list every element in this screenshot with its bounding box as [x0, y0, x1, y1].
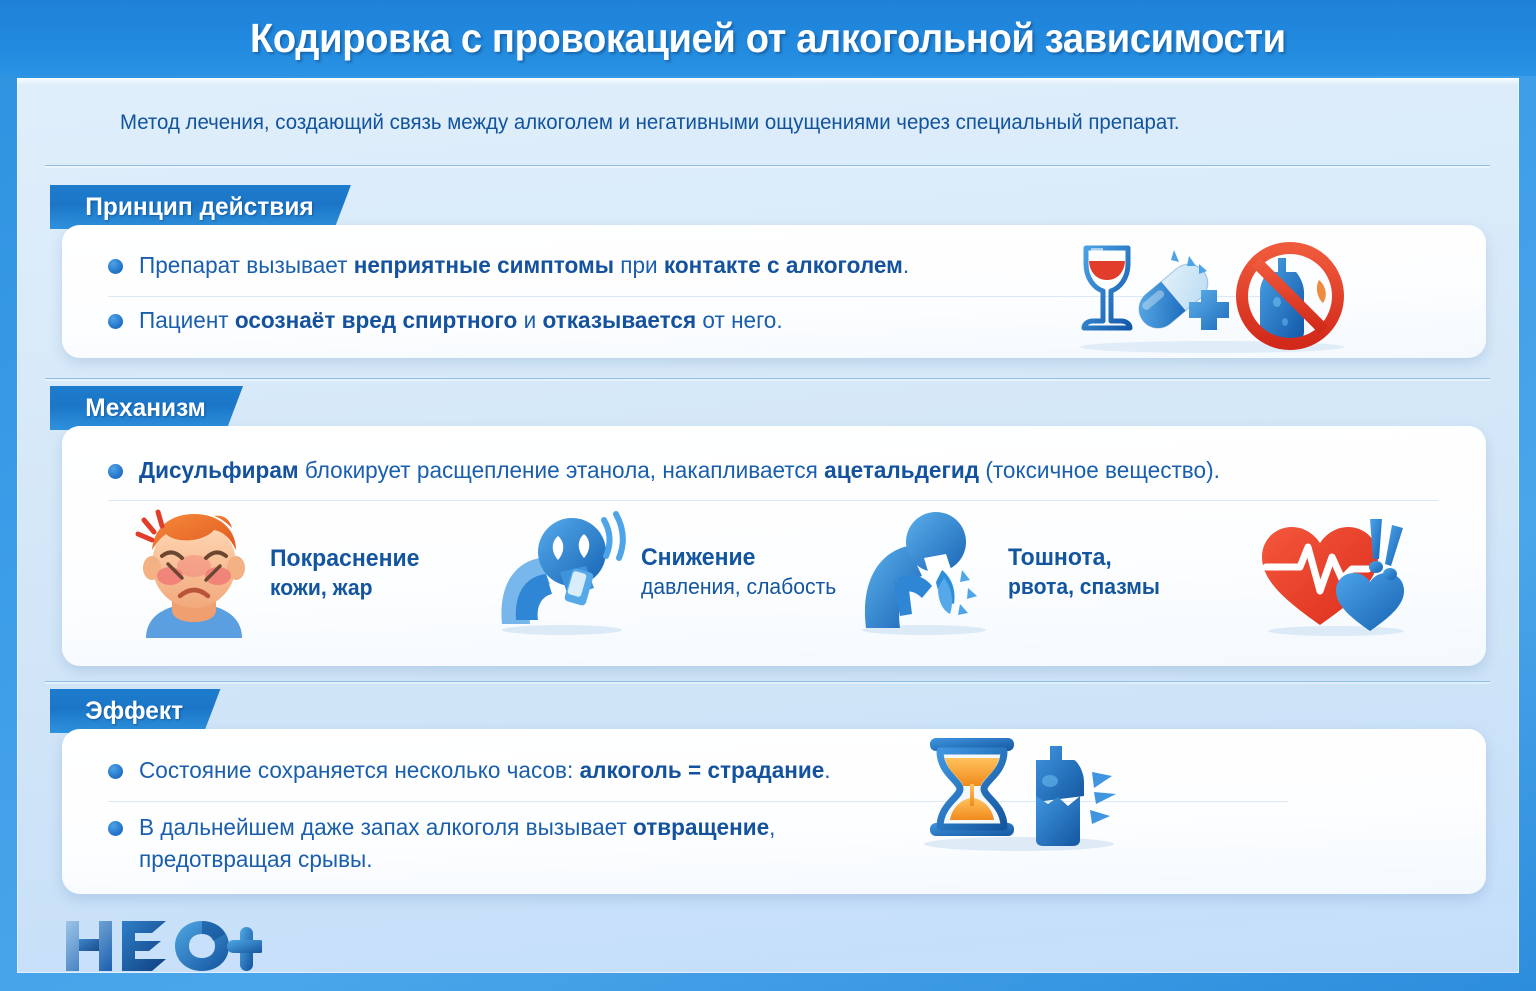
principle-icon-group	[1072, 234, 1352, 354]
section-tab-label: Механизм	[85, 394, 206, 423]
symptom-item: Тошнота, рвота, спазмы	[858, 508, 1166, 636]
bullet-text: Дисульфирам блокирует расщепление этанол…	[139, 455, 1220, 487]
shatter-icon	[1090, 772, 1116, 824]
section-tab-principle: Принцип действия	[50, 185, 351, 229]
intro-text: Метод лечения, создающий связь между алк…	[120, 110, 1374, 135]
vomiting-person-icon	[858, 508, 998, 636]
bullet-text: Состояние сохраняется несколько часов: а…	[139, 755, 831, 787]
symptom-item: Снижение давления, слабость	[496, 508, 844, 636]
poster-header: Кодировка с провокацией от алкогольной з…	[0, 0, 1536, 76]
intro-divider	[45, 165, 1490, 166]
bullet-item: Дисульфирам блокирует расщепление этанол…	[108, 455, 1408, 487]
symptom-label: Снижение давления, слабость	[641, 543, 836, 601]
bullet-dot	[108, 464, 123, 479]
flushed-face-icon	[128, 508, 260, 638]
bullet-item: Состояние сохраняется несколько часов: а…	[108, 755, 928, 787]
symptom-label: Тошнота, рвота, спазмы	[1008, 543, 1160, 601]
no-alcohol-bottle-icon	[1242, 248, 1338, 344]
bullet-item: В дальнейшем даже запах алкоголя вызывае…	[108, 812, 868, 875]
brand-logo	[62, 915, 262, 977]
bullet-divider	[108, 500, 1438, 501]
dizzy-person-icon	[496, 508, 631, 636]
bullet-text: Пациент осознаёт вред спиртного и отказы…	[139, 305, 783, 337]
symptom-item: Покраснение кожи, жар	[128, 508, 426, 638]
bullet-dot	[108, 764, 123, 779]
effect-icon-group	[912, 726, 1127, 851]
bullet-text: В дальнейшем даже запах алкоголя вызывае…	[139, 812, 839, 875]
page-title: Кодировка с провокацией от алкогольной з…	[250, 15, 1286, 62]
bullet-dot	[108, 259, 123, 274]
wine-glass-icon	[1084, 248, 1130, 328]
broken-bottle-icon	[1036, 746, 1116, 846]
neo-plus-logo-icon	[62, 915, 262, 977]
symptom-item	[1258, 505, 1418, 637]
splash-icon	[958, 570, 977, 615]
section-divider	[45, 681, 1490, 682]
dizzy-waves-icon	[604, 514, 623, 558]
section-tab-label: Принцип действия	[85, 193, 313, 222]
panel-gloss	[17, 78, 1519, 85]
exclamation-icon	[1369, 519, 1403, 580]
section-tab-label: Эффект	[85, 697, 183, 726]
hourglass-icon	[930, 738, 1014, 836]
heartbeat-alert-icon	[1258, 505, 1418, 637]
bullet-text: Препарат вызывает неприятные симптомы пр…	[139, 250, 909, 282]
bullet-dot	[108, 314, 123, 329]
bullet-item: Препарат вызывает неприятные симптомы пр…	[108, 250, 1068, 282]
bullet-item: Пациент осознаёт вред спиртного и отказы…	[108, 305, 1068, 337]
infographic-poster: Кодировка с провокацией от алкогольной з…	[0, 0, 1536, 991]
section-tab-mechanism: Механизм	[50, 386, 243, 430]
section-tab-effect: Эффект	[50, 689, 220, 733]
bullet-dot	[108, 821, 123, 836]
symptom-label: Покраснение кожи, жар	[270, 544, 419, 602]
section-divider	[45, 378, 1490, 379]
